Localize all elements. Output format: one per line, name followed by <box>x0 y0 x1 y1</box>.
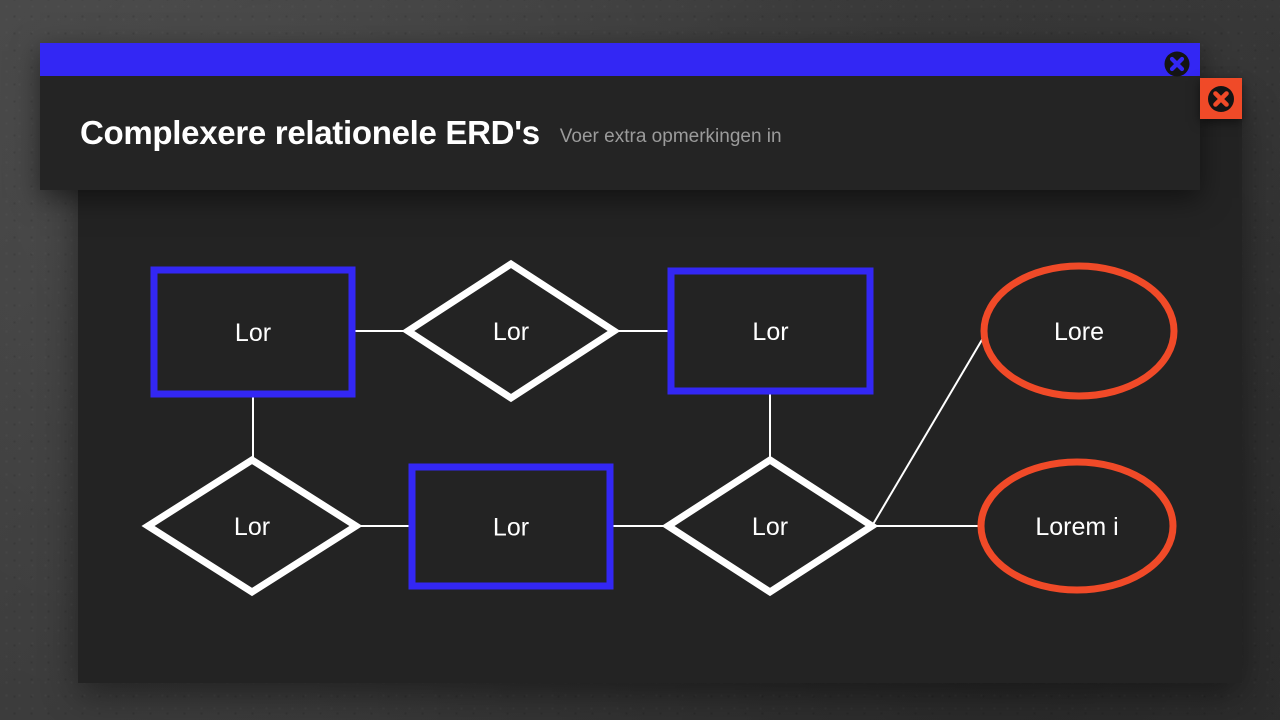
erd-relationship-label: Lor <box>752 513 788 541</box>
page-title: Complexere relationele ERD's <box>80 114 540 152</box>
close-icon-glyph <box>1163 50 1191 78</box>
erd-connector-c7 <box>872 333 986 526</box>
screen-root: LorLorLorLorLorLorLoreLorem i Complexere… <box>0 0 1280 720</box>
header-panel: Complexere relationele ERD's Voer extra … <box>40 43 1200 190</box>
erd-attribute-label: Lorem i <box>1035 513 1118 541</box>
comments-placeholder[interactable]: Voer extra opmerkingen in <box>560 118 782 148</box>
close-button[interactable] <box>1200 78 1242 119</box>
title-bar <box>40 43 1200 76</box>
erd-entity-label: Lor <box>752 318 788 346</box>
erd-attribute-label: Lore <box>1054 318 1104 346</box>
close-icon <box>1206 84 1236 114</box>
close-icon[interactable] <box>1163 50 1191 78</box>
erd-entity-label: Lor <box>235 319 271 347</box>
erd-relationship-label: Lor <box>234 513 270 541</box>
header-body: Complexere relationele ERD's Voer extra … <box>40 76 1200 190</box>
erd-entity-label: Lor <box>493 514 529 542</box>
erd-relationship-label: Lor <box>493 318 529 346</box>
